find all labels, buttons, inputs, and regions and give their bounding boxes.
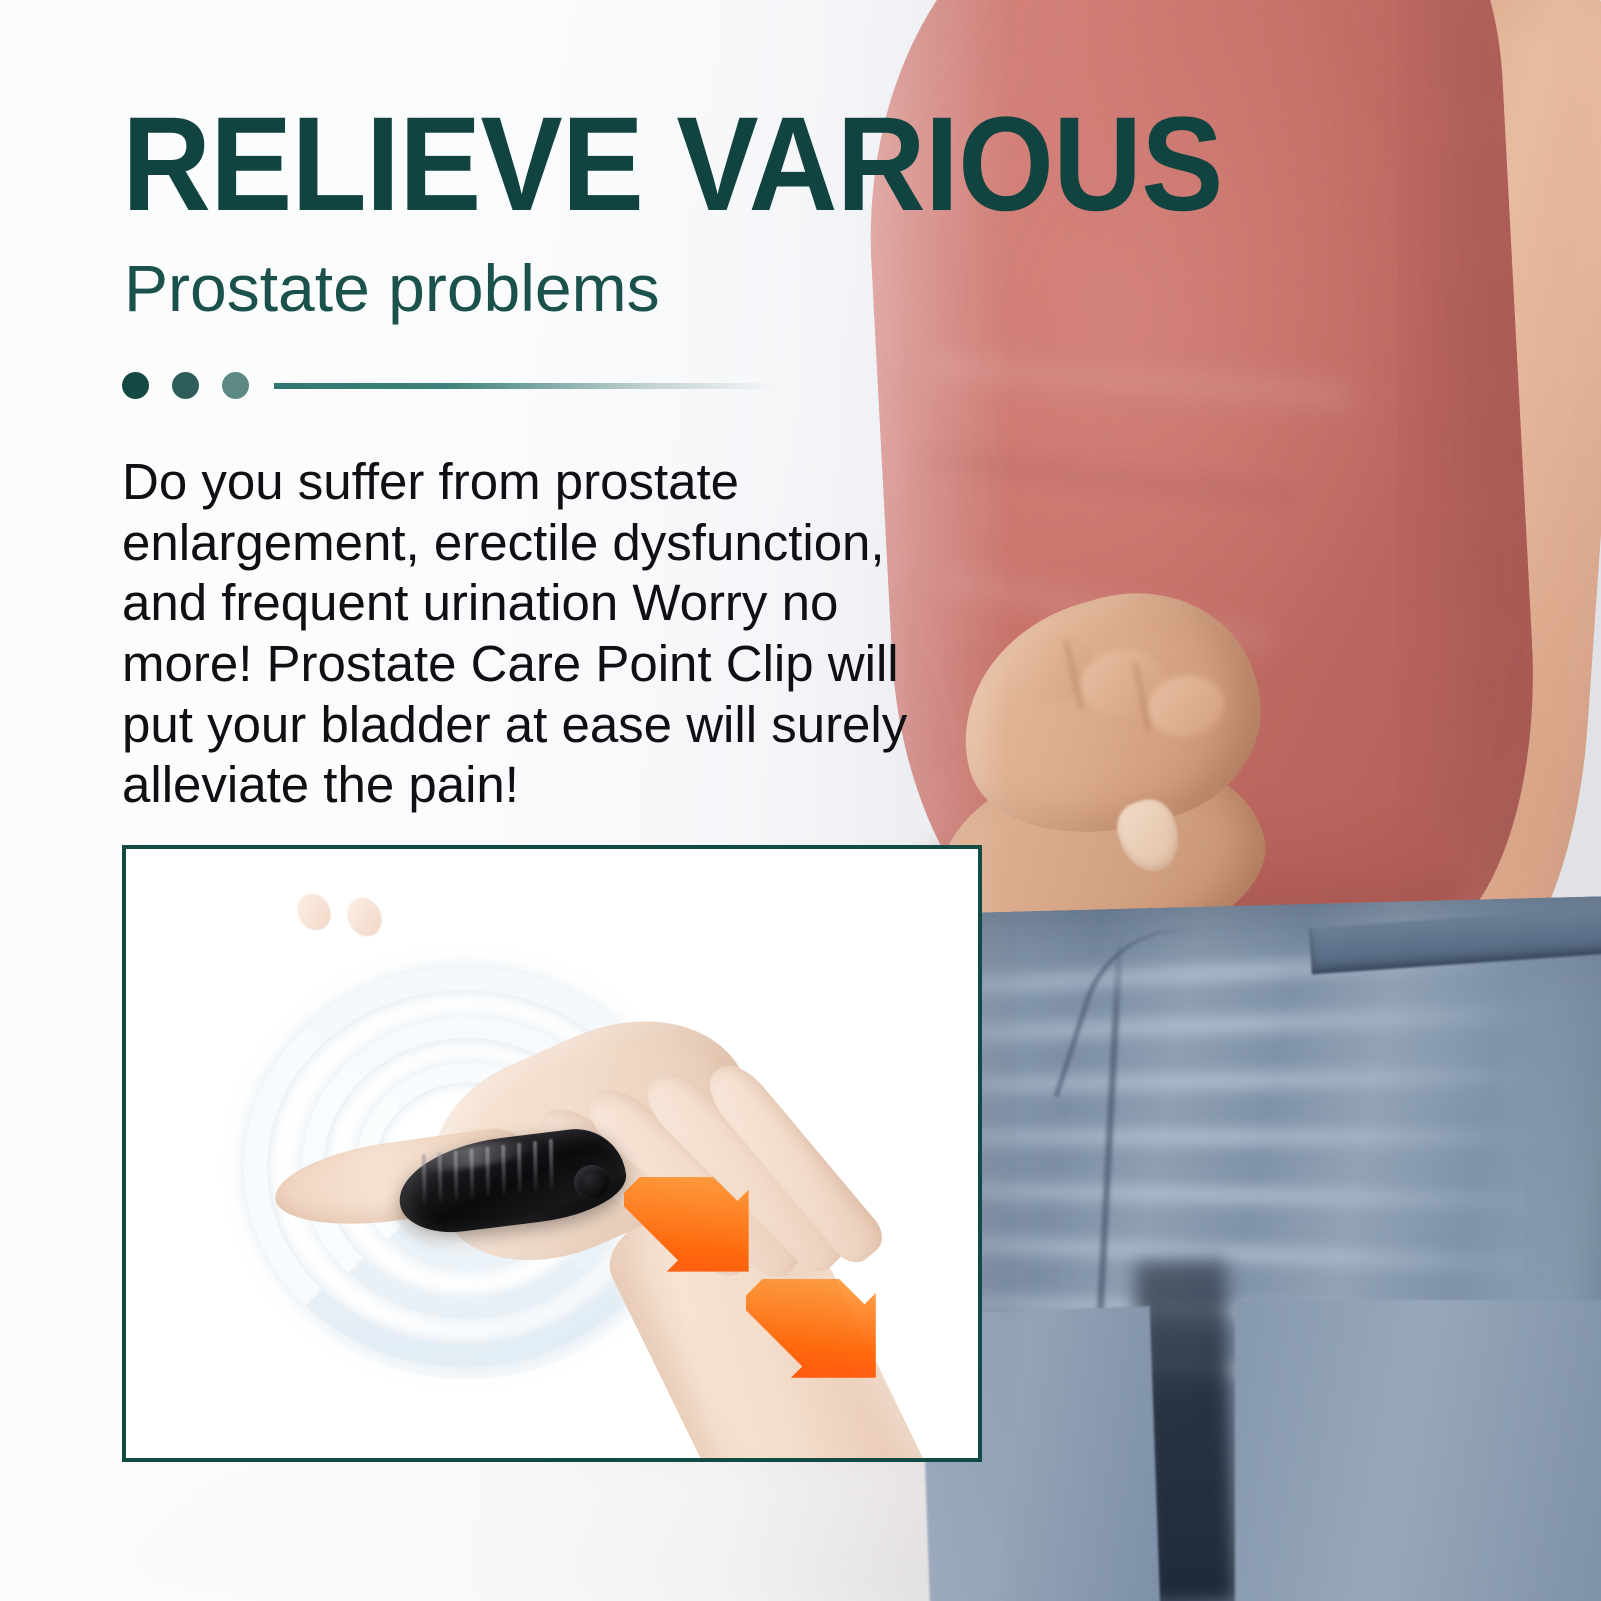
product-demo-panel bbox=[122, 845, 982, 1462]
divider-dot-3 bbox=[222, 372, 249, 399]
divider-dot-1 bbox=[122, 372, 149, 399]
product-demo-canvas bbox=[126, 849, 978, 1458]
page-title: RELIEVE VARIOUS bbox=[122, 98, 1222, 232]
divider-rule bbox=[274, 383, 774, 389]
panel-edge-fade bbox=[678, 1218, 978, 1458]
demo-fingernail bbox=[341, 892, 388, 942]
divider-dot-2 bbox=[172, 372, 199, 399]
page-subtitle: Prostate problems bbox=[124, 255, 660, 321]
body-paragraph: Do you suffer from prostate enlargement,… bbox=[122, 452, 912, 816]
poster-content: RELIEVE VARIOUS Prostate problems Do you… bbox=[0, 0, 1601, 1601]
divider bbox=[122, 370, 782, 400]
promo-poster: RELIEVE VARIOUS Prostate problems Do you… bbox=[0, 0, 1601, 1601]
demo-fingernail bbox=[291, 888, 338, 937]
